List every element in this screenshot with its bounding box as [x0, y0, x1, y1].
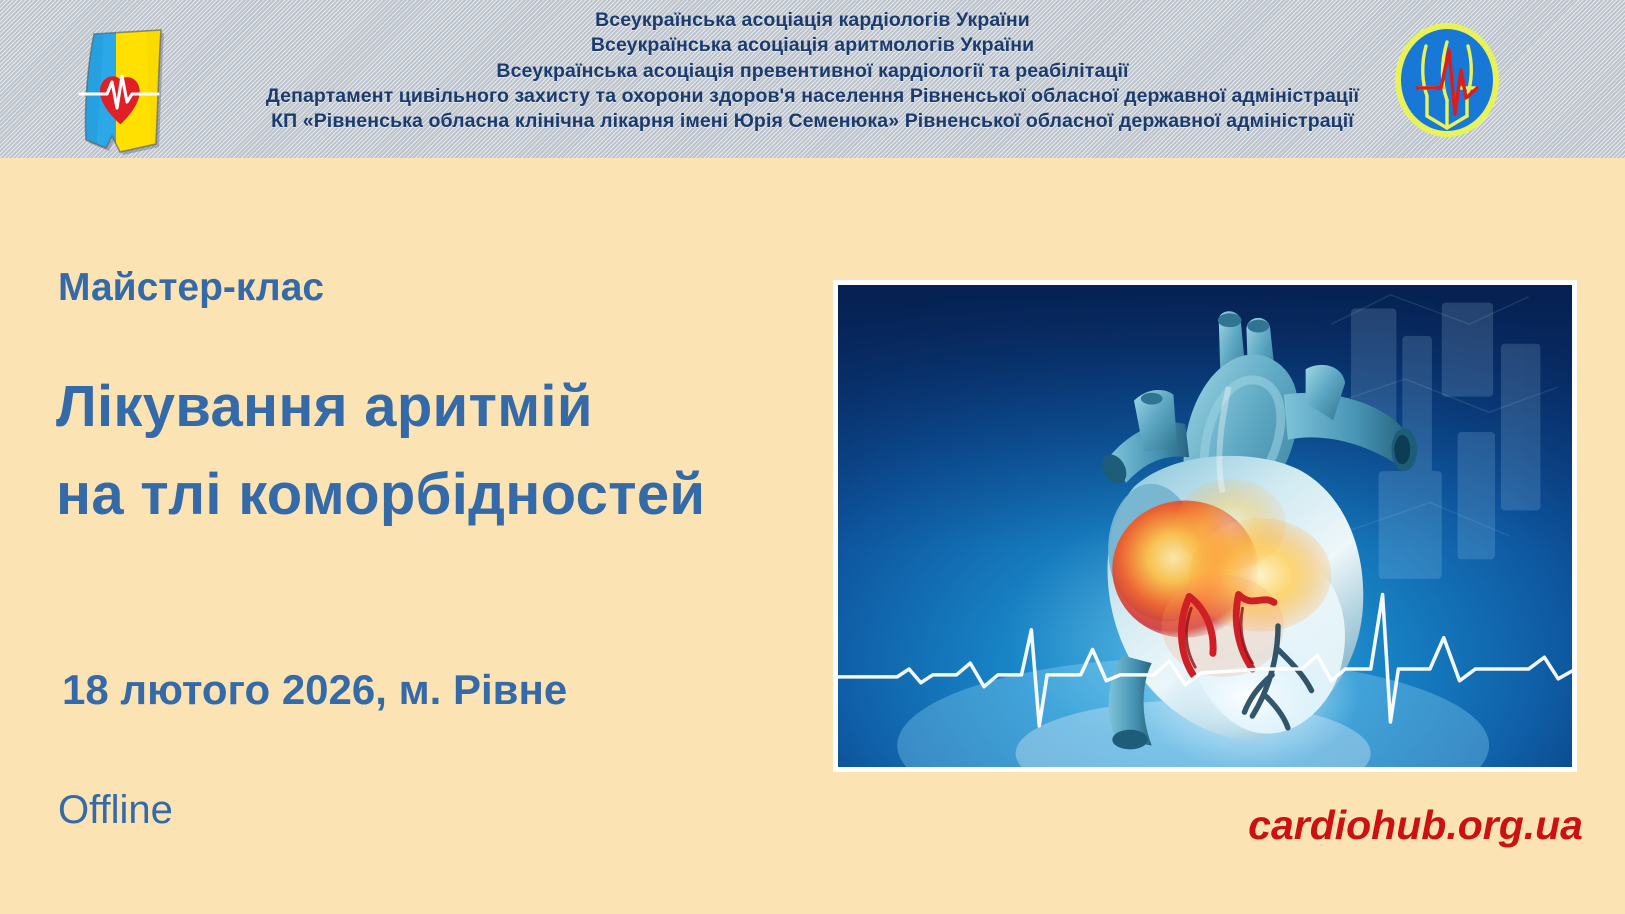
anatomical-heart-ecg-illustration [833, 280, 1577, 772]
event-announcement-poster: Всеукраїнська асоціація кардіологів Укра… [0, 0, 1625, 914]
header-line-4: Департамент цивільного захисту та охорон… [0, 84, 1625, 109]
website-url: cardiohub.org.ua [1248, 802, 1583, 849]
poster-header: Всеукраїнська асоціація кардіологів Укра… [0, 0, 1625, 158]
header-line-2: Всеукраїнська асоціація аритмологів Укра… [0, 33, 1625, 58]
header-organisation-lines: Всеукраїнська асоціація кардіологів Укра… [0, 8, 1625, 135]
event-format: Offline [58, 788, 173, 833]
poster-body: Майстер-клас Лікування аритмій на тлі ко… [0, 158, 1625, 914]
event-title-line-1: Лікування аритмій [56, 363, 705, 451]
event-date-location: 18 лютого 2026, м. Рівне [62, 666, 567, 714]
event-kicker: Майстер-клас [58, 266, 324, 310]
header-line-5: КП «Рівненська обласна клінічна лікарня … [0, 109, 1625, 134]
ukrainian-trident-ecg-emblem [1391, 20, 1503, 140]
event-title-line-2: на тлі коморбідностей [56, 451, 705, 539]
header-line-1: Всеукраїнська асоціація кардіологів Укра… [0, 8, 1625, 33]
event-title: Лікування аритмій на тлі коморбідностей [56, 363, 705, 539]
header-line-3: Всеукраїнська асоціація превентивної кар… [0, 59, 1625, 84]
